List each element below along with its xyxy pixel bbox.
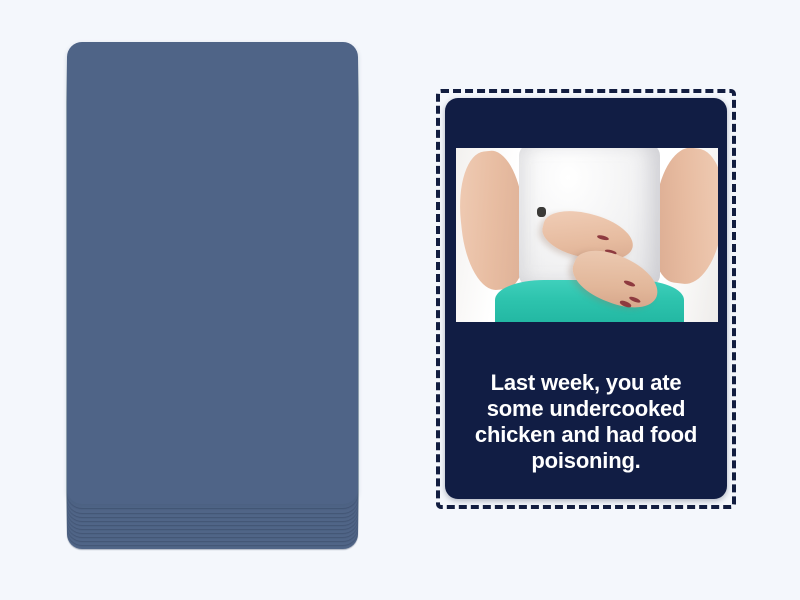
revealed-card[interactable]: Last week, you ate some undercooked chic… xyxy=(445,98,727,499)
stomach-ache-photo xyxy=(456,148,718,322)
card-deck[interactable] xyxy=(67,42,358,548)
card-activity-stage: Last week, you ate some undercooked chic… xyxy=(0,0,800,600)
illustration-fingernail xyxy=(597,235,609,242)
illustration-fingernail xyxy=(629,295,641,303)
illustration-button xyxy=(537,207,545,217)
photo-canvas xyxy=(456,148,718,322)
card-caption: Last week, you ate some undercooked chic… xyxy=(461,370,711,474)
illustration-fingernail xyxy=(624,279,636,287)
deck-top-card[interactable] xyxy=(67,42,358,504)
